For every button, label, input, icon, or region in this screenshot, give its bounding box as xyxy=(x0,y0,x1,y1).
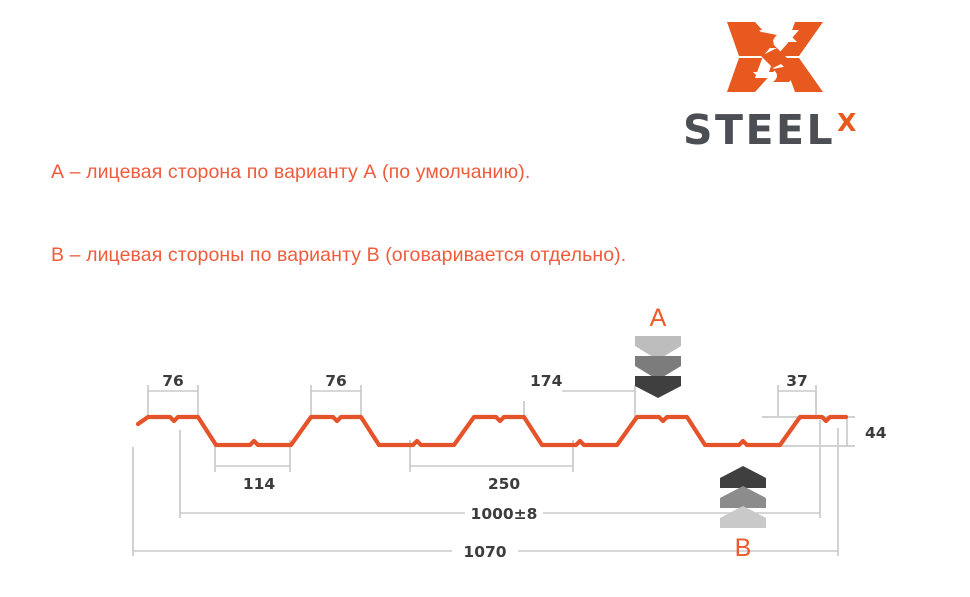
chevron-up-stack-icon xyxy=(720,466,766,528)
chevron-down-stack-icon xyxy=(635,336,681,398)
marker-b-letter: В xyxy=(712,536,774,561)
page-root: STEEL X А – лицевая сторона по варианту … xyxy=(0,0,970,597)
dim-label-44: 44 xyxy=(865,424,887,442)
dim-label-76-left: 76 xyxy=(162,372,184,390)
profile-technical-drawing: 76 76 174 37 114 250 44 1000±8 1070 xyxy=(0,0,970,597)
marker-side-b: В xyxy=(712,466,774,558)
marker-a-letter: А xyxy=(627,306,689,331)
dim-label-76-mid: 76 xyxy=(325,372,347,390)
corrugated-profile-path xyxy=(138,417,846,445)
dim-label-174: 174 xyxy=(530,372,563,390)
dim-label-250: 250 xyxy=(488,475,521,493)
dim-label-1070: 1070 xyxy=(463,543,506,561)
dim-label-1000: 1000±8 xyxy=(471,505,538,523)
marker-side-a: А xyxy=(627,306,689,398)
dimension-text-mask xyxy=(452,381,562,562)
dim-label-114: 114 xyxy=(243,475,276,493)
dim-label-37: 37 xyxy=(786,372,808,390)
